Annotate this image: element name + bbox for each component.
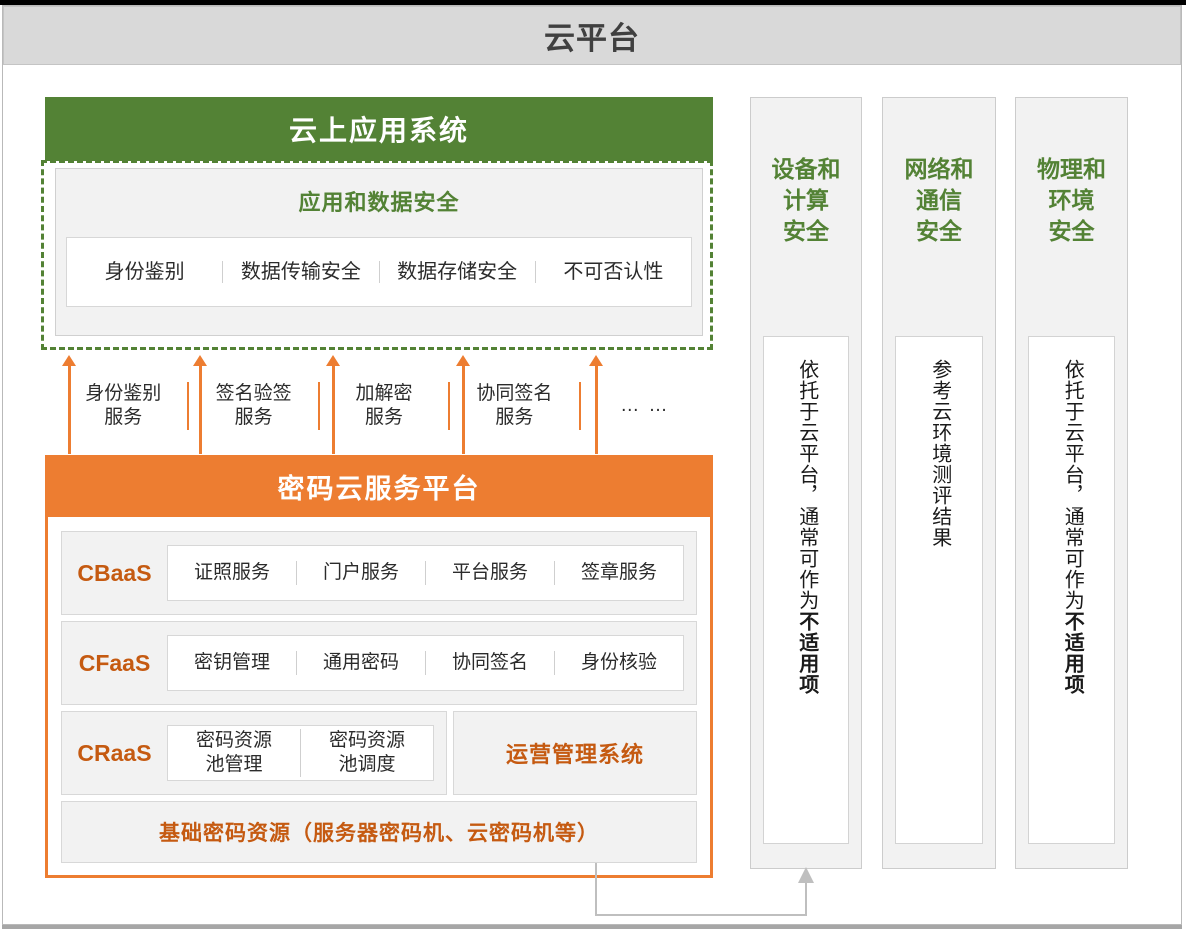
service-row-craas: CRaaS 密码资源池管理 密码资源池调度 [61,711,447,795]
right-column-physical-environment-security: 物理和环境安全 依托于云平台，通常可作为不适用项 [1015,97,1128,869]
service-arrow-head-icon [456,355,470,366]
platform-to-device-column-connector [560,855,890,933]
connector-arrow-icon [560,855,890,933]
security-item: 身份鉴别 [67,261,223,283]
service-cell: 密钥管理 [168,651,297,675]
service-cell: 密码资源池调度 [301,729,433,777]
application-data-security-panel: 应用和数据安全 身份鉴别 数据传输安全 数据存储安全 不可否认性 [55,168,703,336]
right-column-vertical-text: 依托于云平台，通常可作为不适用项 [794,359,818,843]
base-crypto-resource-label: 基础密码资源（服务器密码机、云密码机等） [159,817,599,847]
service-row-tag: CBaaS [62,560,167,587]
base-crypto-resource-box: 基础密码资源（服务器密码机、云密码机等） [61,801,697,863]
right-column-body-bold: 不适用项 [796,611,818,695]
bottom-gray-strip [2,925,1182,929]
crypto-cloud-platform-label: 密码云服务平台 [278,467,481,506]
diagram-root: 云平台 云上应用系统 应用和数据安全 身份鉴别 数据传输安全 数据存储安全 不可… [0,0,1186,933]
service-label-ellipsis: … … [581,394,709,418]
application-data-security-title: 应用和数据安全 [56,185,702,217]
service-cell: 通用密码 [297,651,426,675]
application-data-security-item-list: 身份鉴别 数据传输安全 数据存储安全 不可否认性 [66,237,692,307]
right-column-vertical-text: 参考云环境测评结果 [927,359,951,843]
service-label: 加解密服务 [320,382,450,431]
right-column-body-plain: 参考云环境测评结果 [929,359,951,548]
service-arrow-head-icon [62,355,76,366]
service-arrow-head-icon [193,355,207,366]
cloud-application-system-label: 云上应用系统 [289,109,469,149]
service-row-cells: 密码资源池管理 密码资源池调度 [167,725,434,781]
service-row-cells: 密钥管理 通用密码 协同签名 身份核验 [167,635,684,691]
service-row-tag: CRaaS [62,740,167,767]
cloud-platform-header: 云平台 [3,6,1181,65]
crypto-cloud-platform-body: CBaaS 证照服务 门户服务 平台服务 签章服务 CFaaS 密钥管理 通用密… [45,517,713,878]
security-item: 数据传输安全 [223,261,379,283]
service-label: 签名验签服务 [189,382,319,431]
service-arrow-head-icon [326,355,340,366]
service-cell: 平台服务 [426,561,555,585]
service-arrow-head-icon [589,355,603,366]
service-row-tag: CFaaS [62,650,167,677]
service-cell: 证照服务 [168,561,297,585]
service-cell: 密码资源池管理 [168,729,301,777]
right-column-title: 物理和环境安全 [1016,154,1127,247]
service-row-cbaas: CBaaS 证照服务 门户服务 平台服务 签章服务 [61,531,697,615]
service-cell: 门户服务 [297,561,426,585]
service-label-row: 身份鉴别服务 签名验签服务 加解密服务 协同签名服务 … … [59,368,709,444]
security-item: 不可否认性 [536,261,691,283]
right-column-body-box: 依托于云平台，通常可作为不适用项 [763,336,849,844]
operations-management-system-box: 运营管理系统 [453,711,697,795]
right-column-network-communication-security: 网络和通信安全 参考云环境测评结果 [882,97,996,869]
right-column-body-box: 参考云环境测评结果 [895,336,983,844]
right-column-device-compute-security: 设备和计算安全 依托于云平台，通常可作为不适用项 [750,97,862,869]
service-label: 协同签名服务 [450,382,580,431]
operations-management-system-label: 运营管理系统 [506,737,644,769]
right-column-title: 设备和计算安全 [751,154,861,247]
service-label: 身份鉴别服务 [59,382,189,431]
cloud-application-system-header: 云上应用系统 [45,97,713,161]
service-row-cells: 证照服务 门户服务 平台服务 签章服务 [167,545,684,601]
right-column-body-plain: 依托于云平台，通常可作为 [796,359,818,611]
service-arrow-band: 身份鉴别服务 签名验签服务 加解密服务 协同签名服务 … … [45,352,713,454]
service-cell: 协同签名 [426,651,555,675]
crypto-cloud-platform-header: 密码云服务平台 [45,455,713,517]
right-column-vertical-text: 依托于云平台，通常可作为不适用项 [1060,359,1084,843]
page-title: 云平台 [544,13,640,58]
security-item: 数据存储安全 [380,261,536,283]
right-column-body-plain: 依托于云平台，通常可作为 [1061,359,1083,611]
service-cell: 身份核验 [555,651,683,675]
right-column-title: 网络和通信安全 [883,154,995,247]
service-cell: 签章服务 [555,561,683,585]
service-row-cfaas: CFaaS 密钥管理 通用密码 协同签名 身份核验 [61,621,697,705]
right-column-body-bold: 不适用项 [1061,611,1083,695]
right-column-body-box: 依托于云平台，通常可作为不适用项 [1028,336,1115,844]
